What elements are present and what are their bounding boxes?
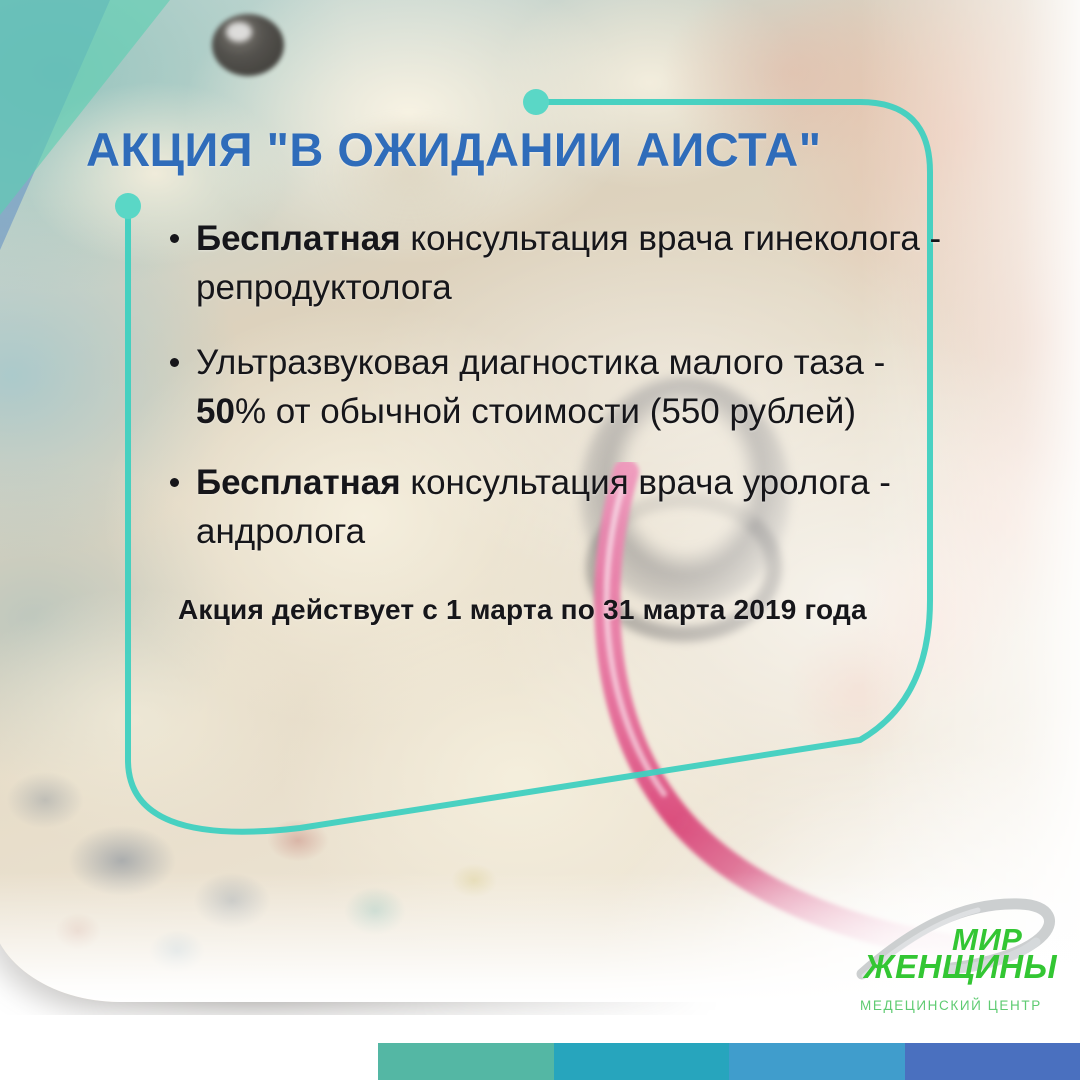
page-title: АКЦИЯ "В ОЖИДАНИИ АИСТА" [86, 122, 822, 177]
color-block-teal-green [378, 1043, 554, 1080]
bullet-2-line2-pre: таза - [794, 343, 886, 382]
bullet-1-lead: Бесплатная [196, 219, 401, 258]
bullet-2-line2-post: % от обычной стоимости [235, 392, 640, 431]
bullet-2-discount: 50 [196, 392, 235, 431]
color-block-indigo-blue [905, 1043, 1080, 1080]
logo-tagline: МЕДЕЦИНСКИЙ ЦЕНТР [860, 998, 1042, 1013]
promo-poster: АКЦИЯ "В ОЖИДАНИИ АИСТА" Бесплатная конс… [0, 0, 1080, 1080]
promo-validity-text: Акция действует с 1 марта по 31 марта 20… [178, 594, 867, 626]
bullet-2-line1: Ультразвуковая диагностика малого [196, 343, 784, 382]
brand-logo: МИР ЖЕНЩИНЫ МЕДЕЦИНСКИЙ ЦЕНТР [844, 898, 1064, 1018]
bullet-dot-icon [170, 358, 179, 367]
color-block-cyan [554, 1043, 730, 1080]
benefits-list: Бесплатная консультация врача гинеколога… [168, 214, 958, 572]
bottom-color-bar [378, 1043, 1080, 1080]
bullet-dot-icon [170, 234, 179, 243]
bullet-3-lead: Бесплатная [196, 463, 401, 502]
corner-triangle-teal [0, 0, 170, 215]
color-block-light-blue [729, 1043, 905, 1080]
logo-word-zhenshchiny: ЖЕНЩИНЫ [864, 948, 1057, 986]
bullet-dot-icon [170, 478, 179, 487]
bullet-2-line3: (550 рублей) [650, 392, 856, 431]
list-item: Ультразвуковая диагностика малого таза -… [168, 338, 958, 436]
list-item: Бесплатная консультация врача гинеколога… [168, 214, 958, 312]
list-item: Бесплатная консультация врача уролога - … [168, 458, 958, 556]
